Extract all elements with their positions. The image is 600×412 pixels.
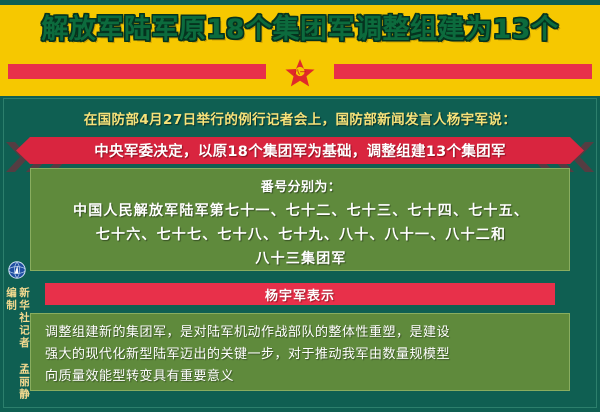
unit-numbers-heading: 番号分别为： [31,176,571,195]
red-star-bayi-icon: 八一 [283,57,317,89]
headline-ribbon: 中央军委决定，以原18个集团军为基础，调整组建13个集团军 [16,137,584,164]
headline-ribbon-text: 中央军委决定，以原18个集团军为基础，调整组建13个集团军 [94,140,506,161]
body-frame: 在国防部4月27日举行的例行记者会上，国防部新闻发言人杨宇军说： 中央军委决定，… [0,96,600,412]
closing-line: 向质量效能型转变具有重要意义 [45,366,557,388]
unit-line: 七十六、七十七、七十八、七十九、八十、八十一、八十二和 [31,223,571,247]
speaker-subheading-bar: 杨宇军表示 [45,283,555,305]
page-title: 解放军陆军原18个集团军调整组建为13个 [0,13,600,47]
credit-text: 新华社记者 孟丽静 编制 [4,287,30,405]
unit-line: 八十三集团军 [31,247,571,271]
unit-numbers-panel: 番号分别为： 中国人民解放军陆军第七十一、七十二、七十三、七十四、七十五、 七十… [30,168,570,271]
credit-strip: 新华社记者 孟丽静 编制 [4,259,30,405]
svg-text:八一: 八一 [293,70,306,77]
closing-line: 调整组建新的集团军，是对陆军机动作战部队的整体性重塑，是建设 [45,322,557,344]
infographic-poster: 解放军陆军原18个集团军调整组建为13个 八一 [0,0,600,412]
closing-line: 强大的现代化新型陆军迈出的关键一步，对于推动我军由数量规模型 [45,344,557,366]
title-red-bar-left [8,64,266,79]
closing-statement-text: 调整组建新的集团军，是对陆军机动作战部队的整体性重塑，是建设 强大的现代化新型陆… [45,322,557,388]
title-band-top-edge [0,0,600,5]
title-band: 解放军陆军原18个集团军调整组建为13个 八一 [0,0,600,96]
intro-text: 在国防部4月27日举行的例行记者会上，国防部新闻发言人杨宇军说： [0,108,600,128]
unit-numbers-list: 中国人民解放军陆军第七十一、七十二、七十三、七十四、七十五、 七十六、七十七、七… [31,199,571,271]
xinhua-logo-icon [8,261,26,283]
closing-statement-panel: 调整组建新的集团军，是对陆军机动作战部队的整体性重塑，是建设 强大的现代化新型陆… [30,313,570,391]
unit-line: 中国人民解放军陆军第七十一、七十二、七十三、七十四、七十五、 [31,199,571,223]
speaker-subheading-text: 杨宇军表示 [265,285,335,304]
title-red-bar-right [334,64,592,79]
